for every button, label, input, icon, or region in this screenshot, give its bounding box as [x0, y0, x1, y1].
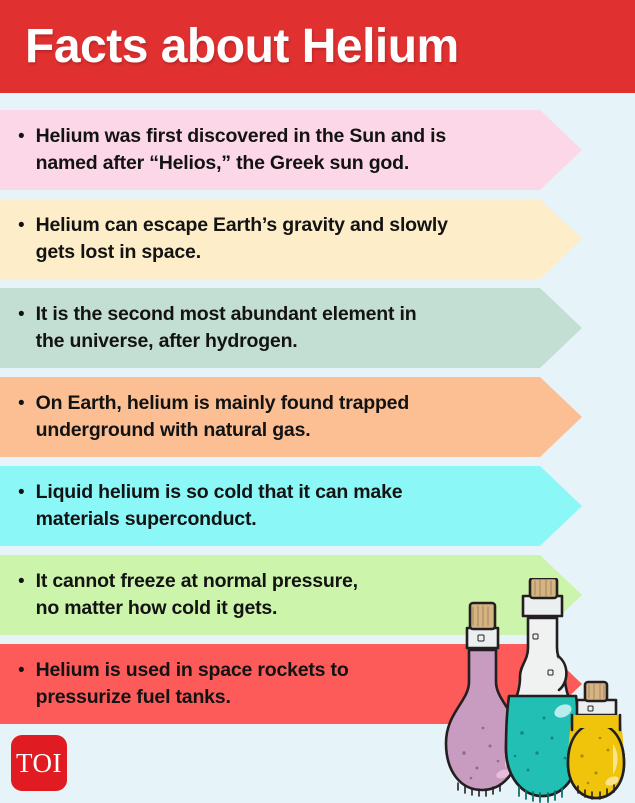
list-item: • Helium can escape Earth’s gravity and …: [0, 199, 582, 279]
toi-logo[interactable]: TOI: [11, 735, 67, 791]
fact-text: Helium can escape Earth’s gravity and sl…: [36, 212, 448, 266]
fact-content: • On Earth, helium is mainly found trapp…: [0, 377, 409, 457]
fact-content: • Helium was first discovered in the Sun…: [0, 110, 446, 190]
page-title: Facts about Helium: [0, 19, 459, 74]
fact-text: It is the second most abundant element i…: [36, 301, 417, 355]
fact-text: Liquid helium is so cold that it can mak…: [36, 479, 403, 533]
list-item: • Helium was first discovered in the Sun…: [0, 110, 582, 190]
toi-logo-text: TOI: [16, 748, 62, 779]
fact-text: Helium was first discovered in the Sun a…: [36, 123, 446, 177]
list-item: • It is the second most abundant element…: [0, 288, 582, 368]
bullet-icon: •: [18, 390, 36, 417]
list-item: • It cannot freeze at normal pressure, n…: [0, 555, 582, 635]
fact-content: • Liquid helium is so cold that it can m…: [0, 466, 402, 546]
fact-text: On Earth, helium is mainly found trapped…: [36, 390, 409, 444]
header-banner: Facts about Helium: [0, 0, 635, 93]
fact-content: • It cannot freeze at normal pressure, n…: [0, 555, 358, 635]
list-item: • Helium is used in space rockets to pre…: [0, 644, 582, 724]
fact-content: • Helium can escape Earth’s gravity and …: [0, 199, 448, 279]
fact-text: It cannot freeze at normal pressure, no …: [36, 568, 358, 622]
bullet-icon: •: [18, 123, 36, 150]
fact-content: • It is the second most abundant element…: [0, 288, 416, 368]
fact-text: Helium is used in space rockets to press…: [36, 657, 349, 711]
bullet-icon: •: [18, 568, 36, 595]
list-item: • On Earth, helium is mainly found trapp…: [0, 377, 582, 457]
bullet-icon: •: [18, 301, 36, 328]
list-item: • Liquid helium is so cold that it can m…: [0, 466, 582, 546]
bullet-icon: •: [18, 657, 36, 684]
facts-list: • Helium was first discovered in the Sun…: [0, 110, 635, 733]
fact-content: • Helium is used in space rockets to pre…: [0, 644, 349, 724]
bullet-icon: •: [18, 479, 36, 506]
bullet-icon: •: [18, 212, 36, 239]
